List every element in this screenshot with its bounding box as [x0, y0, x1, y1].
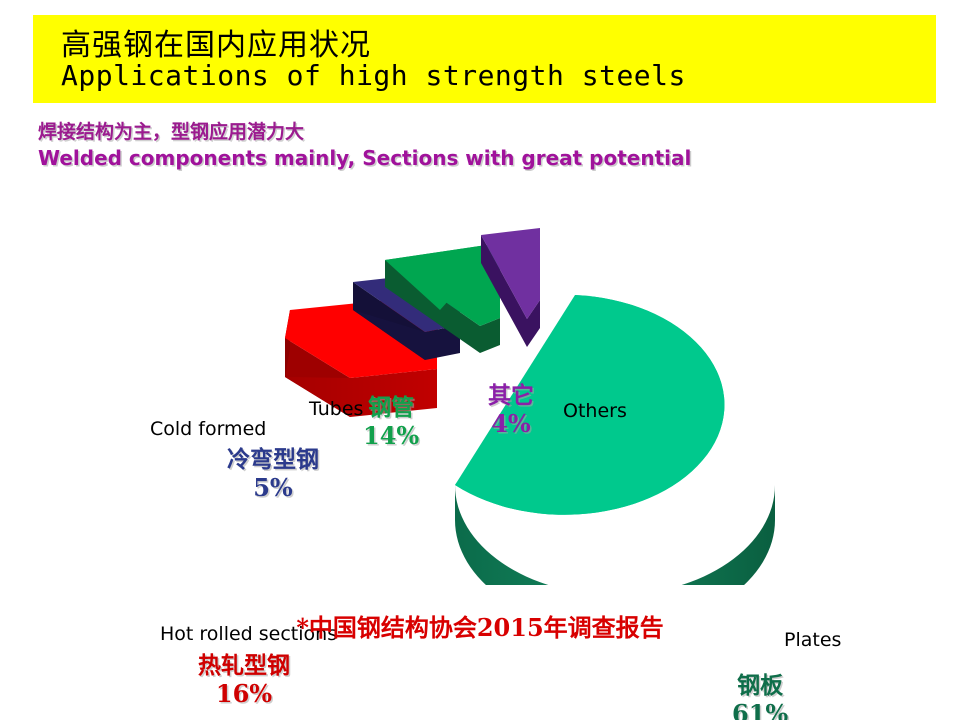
label-plates-cn-text: 钢板	[732, 673, 788, 700]
label-tubes-en: Tubes	[309, 398, 363, 420]
pie-chart: Cold formed 冷弯型钢 5% Tubes 钢管 14% 其它 4% O…	[0, 185, 960, 585]
label-cold-formed-percent: 5%	[227, 474, 319, 502]
label-plates-cn: 钢板 61%	[732, 673, 788, 720]
footnote-source: *中国钢结构协会2015年调查报告	[0, 608, 960, 643]
label-others-percent: 4%	[488, 410, 534, 438]
label-cold-formed-en: Cold formed	[150, 418, 266, 440]
slide-canvas: 高强钢在国内应用状况 Applications of high strength…	[0, 0, 960, 720]
page-title-chinese: 高强钢在国内应用状况	[61, 20, 371, 64]
label-tubes-cn: 钢管 14%	[363, 395, 419, 450]
label-tubes-cn-text: 钢管	[363, 395, 419, 422]
label-hot-rolled-cn: 热轧型钢 16%	[198, 653, 290, 708]
label-hot-rolled-percent: 16%	[198, 680, 290, 708]
label-plates-percent: 61%	[732, 700, 788, 720]
label-others-cn: 其它 4%	[488, 383, 534, 438]
title-banner: 高强钢在国内应用状况 Applications of high strength…	[33, 15, 936, 103]
label-tubes-percent: 14%	[363, 422, 419, 450]
label-others-cn-text: 其它	[488, 383, 534, 410]
subtitle-english: Welded components mainly, Sections with …	[38, 146, 691, 170]
label-hot-rolled-cn-text: 热轧型钢	[198, 653, 290, 680]
label-cold-formed-cn: 冷弯型钢 5%	[227, 447, 319, 502]
label-cold-formed-cn-text: 冷弯型钢	[227, 447, 319, 474]
pie-slice-plates	[455, 295, 775, 585]
subtitle-chinese: 焊接结构为主，型钢应用潜力大	[38, 117, 304, 144]
pie-chart-svg	[0, 185, 960, 585]
label-others-en: Others	[563, 400, 627, 422]
page-title-english: Applications of high strength steels	[61, 59, 686, 92]
